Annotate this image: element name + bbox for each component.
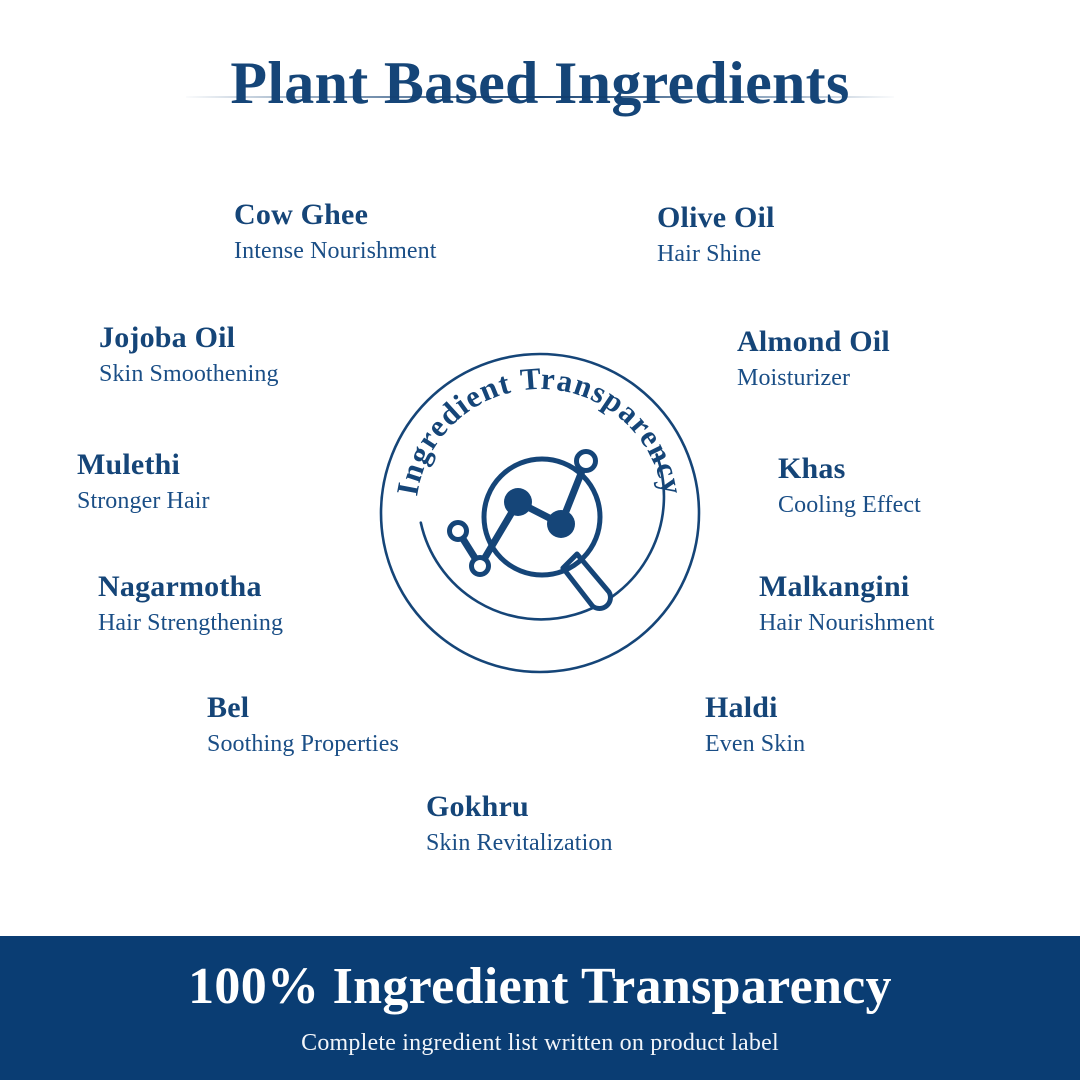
infographic-page: Plant Based Ingredients Cow GheeIntense … (0, 0, 1080, 1080)
badge-curved-text: Ingredient Transparency (389, 361, 690, 499)
ingredient-benefit: Hair Nourishment (759, 608, 935, 638)
ingredient-name: Mulethi (77, 447, 210, 484)
ingredient-item: BelSoothing Properties (207, 690, 399, 759)
ingredient-benefit: Cooling Effect (778, 490, 921, 520)
ingredient-transparency-badge: Ingredient Transparency (376, 349, 704, 677)
ingredient-name: Malkangini (759, 569, 935, 606)
page-title: Plant Based Ingredients (0, 52, 1080, 115)
ingredient-item: Cow GheeIntense Nourishment (234, 197, 437, 266)
title-divider (186, 96, 894, 98)
ingredient-name: Nagarmotha (98, 569, 283, 606)
ingredient-benefit: Even Skin (705, 729, 805, 759)
chart-node-filled-2 (547, 510, 575, 538)
chart-node-hollow-2 (472, 558, 489, 575)
ingredient-item: Almond OilMoisturizer (737, 324, 890, 393)
ingredient-benefit: Skin Revitalization (426, 828, 613, 858)
chart-node-hollow-3 (577, 452, 596, 471)
ingredient-item: KhasCooling Effect (778, 451, 921, 520)
transparency-banner: 100% Ingredient Transparency Complete in… (0, 936, 1080, 1080)
ingredient-item: MalkanginiHair Nourishment (759, 569, 935, 638)
ingredient-benefit: Hair Shine (657, 239, 775, 269)
banner-title: 100% Ingredient Transparency (188, 958, 892, 1015)
ingredient-name: Gokhru (426, 789, 613, 826)
banner-subtitle: Complete ingredient list written on prod… (301, 1029, 779, 1058)
ingredient-item: Jojoba OilSkin Smoothening (99, 320, 279, 389)
ingredient-benefit: Intense Nourishment (234, 236, 437, 266)
ingredient-name: Haldi (705, 690, 805, 727)
chart-node-hollow-1 (450, 523, 467, 540)
ingredient-name: Almond Oil (737, 324, 890, 361)
header: Plant Based Ingredients (0, 52, 1080, 115)
badge-svg: Ingredient Transparency (376, 349, 704, 677)
ingredient-name: Jojoba Oil (99, 320, 279, 357)
ingredient-benefit: Soothing Properties (207, 729, 399, 759)
ingredient-name: Bel (207, 690, 399, 727)
ingredient-benefit: Moisturizer (737, 363, 890, 393)
ingredient-benefit: Hair Strengthening (98, 608, 283, 638)
chart-node-filled-1 (504, 488, 532, 516)
ingredient-benefit: Skin Smoothening (99, 359, 279, 389)
ingredient-name: Olive Oil (657, 200, 775, 237)
magnifier-handle-icon (563, 554, 610, 608)
ingredient-item: GokhruSkin Revitalization (426, 789, 613, 858)
ingredient-benefit: Stronger Hair (77, 486, 210, 516)
ingredient-name: Khas (778, 451, 921, 488)
ingredient-item: NagarmothaHair Strengthening (98, 569, 283, 638)
ingredient-name: Cow Ghee (234, 197, 437, 234)
ingredient-item: MulethiStronger Hair (77, 447, 210, 516)
ingredient-item: HaldiEven Skin (705, 690, 805, 759)
ingredient-item: Olive OilHair Shine (657, 200, 775, 269)
